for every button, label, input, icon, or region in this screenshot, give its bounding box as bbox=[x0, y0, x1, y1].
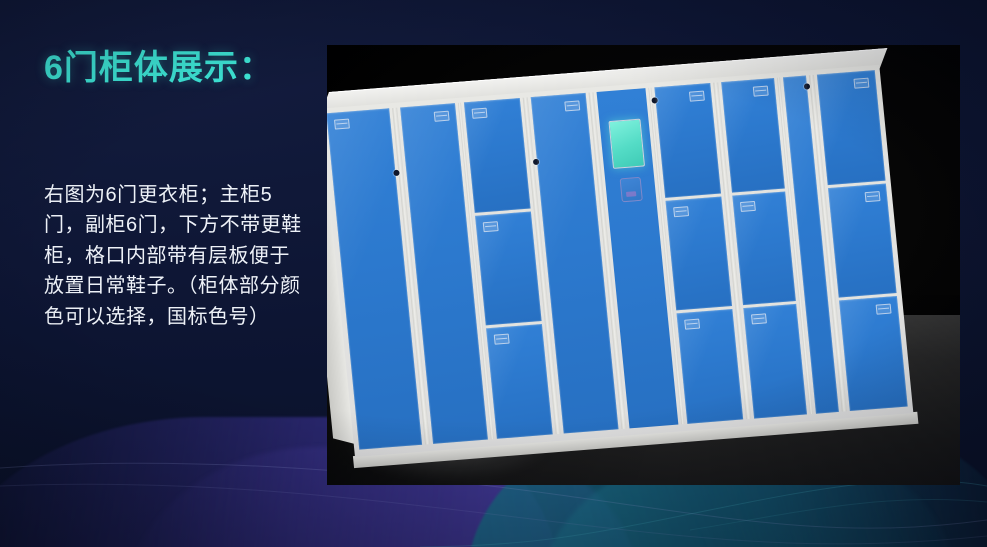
label-holder-icon bbox=[753, 86, 769, 97]
locker-door-7-1[interactable] bbox=[721, 78, 785, 192]
locker-door-6-2[interactable] bbox=[665, 196, 731, 311]
label-holder-icon bbox=[853, 78, 869, 89]
label-holder-icon bbox=[865, 191, 881, 202]
label-holder-icon bbox=[673, 206, 689, 217]
locker-cabinet bbox=[327, 65, 913, 457]
label-holder-icon bbox=[434, 111, 450, 122]
lock-point-icon bbox=[533, 159, 540, 165]
label-holder-icon bbox=[334, 118, 350, 129]
product-photo bbox=[327, 45, 960, 485]
locker-door-9-2[interactable] bbox=[828, 183, 897, 298]
locker-door-3-1[interactable] bbox=[464, 98, 530, 213]
label-holder-icon bbox=[565, 100, 581, 111]
label-holder-icon bbox=[876, 304, 892, 315]
locker-door-6-3[interactable] bbox=[677, 309, 743, 424]
label-holder-icon bbox=[684, 319, 700, 330]
label-holder-icon bbox=[689, 91, 705, 102]
slide-root: 6门柜体展示： 右图为6门更衣柜；主柜5门，副柜6门，下方不带更鞋柜，格口内部带… bbox=[0, 0, 987, 547]
label-holder-icon bbox=[751, 314, 767, 325]
cabinet-front-face bbox=[327, 65, 913, 457]
locker-door-3-2[interactable] bbox=[475, 211, 541, 326]
locker-door-9-3[interactable] bbox=[839, 296, 908, 411]
label-holder-icon bbox=[483, 221, 499, 232]
label-holder-icon bbox=[740, 201, 756, 212]
label-holder-icon bbox=[494, 334, 510, 345]
touchscreen-display[interactable] bbox=[608, 119, 645, 169]
locker-door-6-1[interactable] bbox=[654, 83, 720, 198]
lock-point-icon bbox=[651, 97, 658, 103]
label-holder-icon bbox=[472, 108, 488, 119]
locker-door-7-2[interactable] bbox=[732, 191, 796, 305]
lock-point-icon bbox=[393, 170, 400, 176]
locker-door-9-1[interactable] bbox=[817, 70, 886, 185]
page-title: 6门柜体展示： bbox=[44, 40, 274, 89]
locker-door-3-3[interactable] bbox=[486, 324, 552, 439]
card-reader-icon[interactable] bbox=[619, 177, 642, 203]
locker-door-7-3[interactable] bbox=[743, 304, 807, 418]
description-paragraph: 右图为6门更衣柜；主柜5门，副柜6门，下方不带更鞋柜，格口内部带有层板便于放置日… bbox=[44, 180, 302, 332]
